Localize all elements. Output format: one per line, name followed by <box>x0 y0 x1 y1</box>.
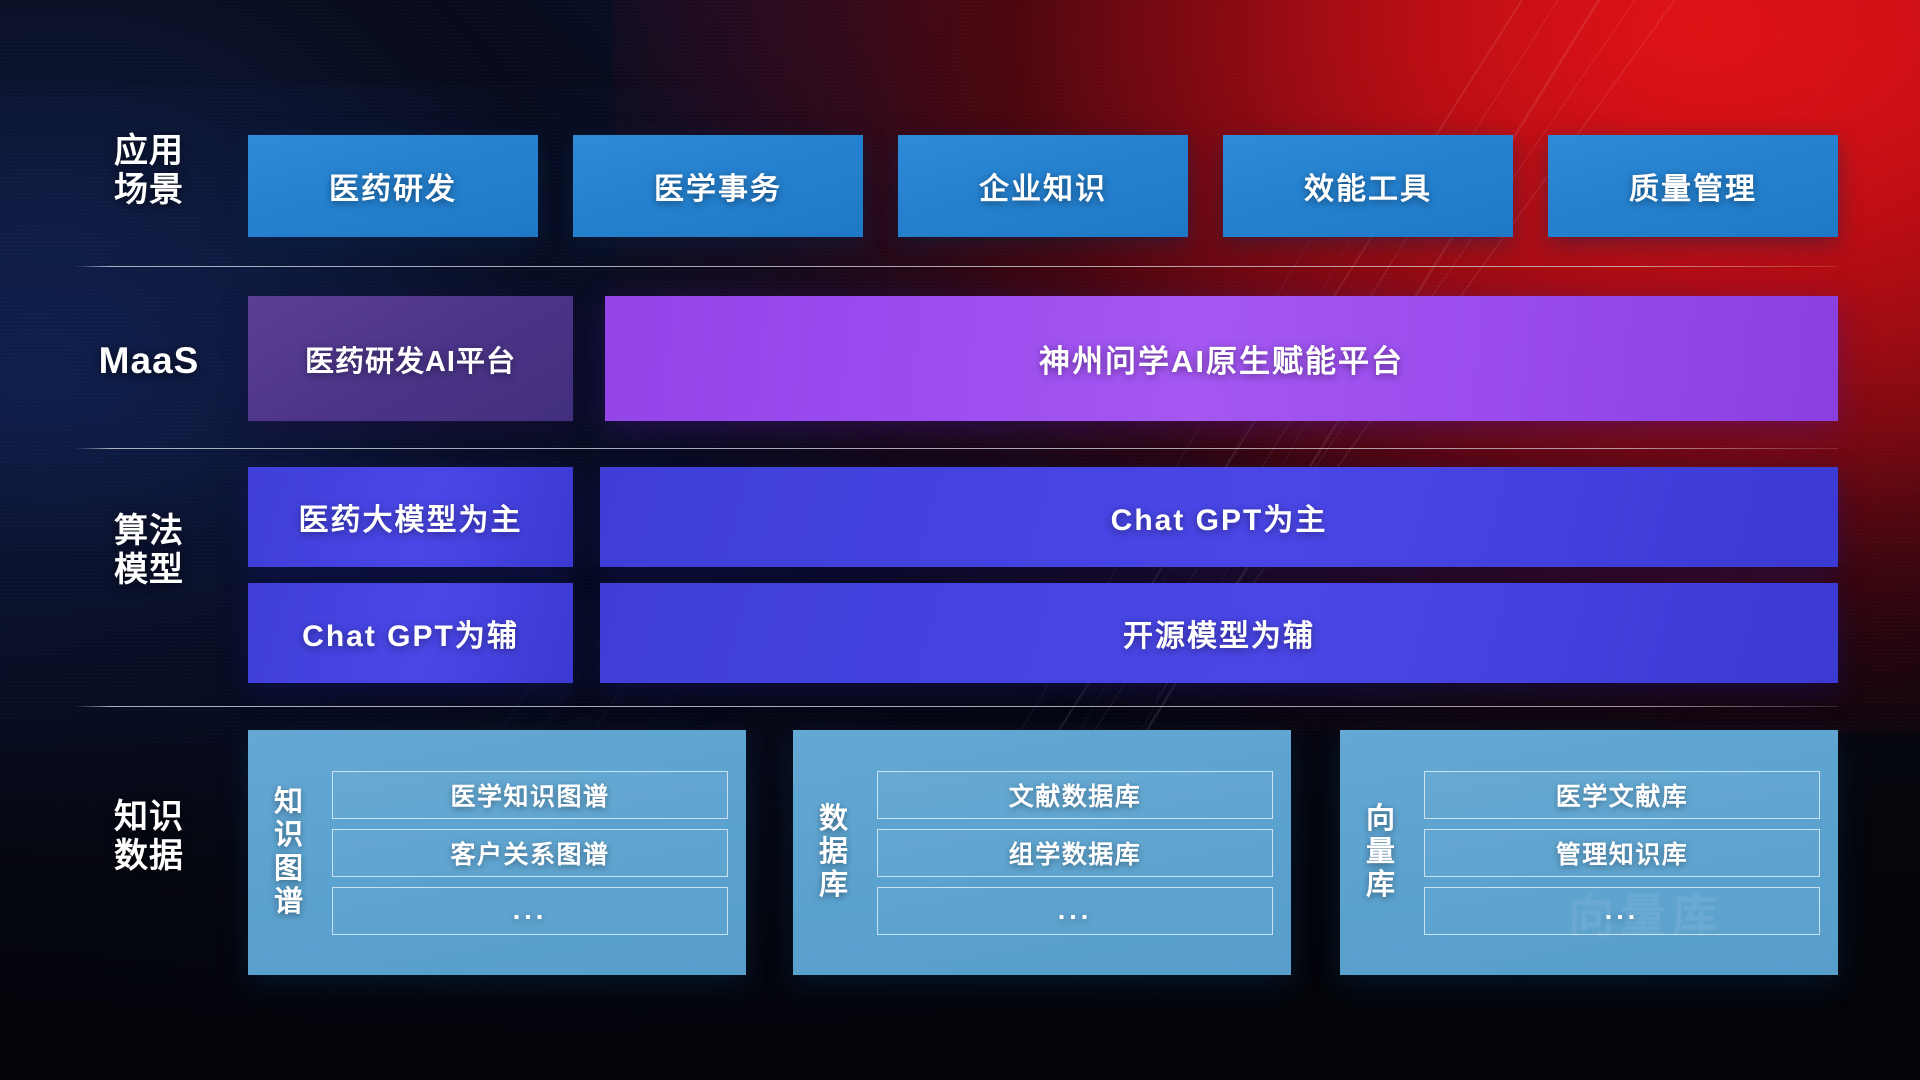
knowledge-item-more[interactable]: ... <box>877 887 1273 935</box>
diagram-stage: 应用 场景 医药研发 医学事务 企业知识 效能工具 质量管理 MaaS 医药研发… <box>0 0 1920 1080</box>
maas-card-medical-ai-platform[interactable]: 医药研发AI平台 <box>248 296 573 421</box>
knowledge-group-title: 知识图谱 <box>260 786 318 918</box>
scene-card-2[interactable]: 医学事务 <box>573 135 863 237</box>
knowledge-group-database[interactable]: 数据库 文献数据库 组学数据库 ... <box>793 730 1291 975</box>
knowledge-item[interactable]: 医学文献库 <box>1424 771 1820 819</box>
knowledge-item[interactable]: 组学数据库 <box>877 829 1273 877</box>
maas-card-shenzhou-wenxue-platform[interactable]: 神州问学AI原生赋能平台 <box>605 296 1838 421</box>
knowledge-group-items: 医学文献库 管理知识库 ... <box>1424 771 1820 935</box>
knowledge-item[interactable]: 客户关系图谱 <box>332 829 728 877</box>
diagram-content: 应用 场景 医药研发 医学事务 企业知识 效能工具 质量管理 MaaS 医药研发… <box>0 0 1920 1080</box>
knowledge-item-more[interactable]: ... <box>1424 887 1820 935</box>
knowledge-group-items: 文献数据库 组学数据库 ... <box>877 771 1273 935</box>
knowledge-group-vector-store[interactable]: 向量库 医学文献库 管理知识库 ... <box>1340 730 1838 975</box>
knowledge-item-more[interactable]: ... <box>332 887 728 935</box>
scene-card-5[interactable]: 质量管理 <box>1548 135 1838 237</box>
algo-card-chatgpt-primary[interactable]: Chat GPT为主 <box>600 467 1838 567</box>
knowledge-item[interactable]: 医学知识图谱 <box>332 771 728 819</box>
algo-card-chatgpt-secondary[interactable]: Chat GPT为辅 <box>248 583 573 683</box>
divider-1 <box>75 266 1838 267</box>
divider-2 <box>75 448 1838 449</box>
scene-card-4[interactable]: 效能工具 <box>1223 135 1513 237</box>
knowledge-group-items: 医学知识图谱 客户关系图谱 ... <box>332 771 728 935</box>
row-label-application-scenarios: 应用 场景 <box>74 132 224 211</box>
scene-card-1[interactable]: 医药研发 <box>248 135 538 237</box>
row-label-maas: MaaS <box>74 340 224 383</box>
scene-card-3[interactable]: 企业知识 <box>898 135 1188 237</box>
knowledge-group-title: 向量库 <box>1352 803 1410 902</box>
algo-card-medical-llm-primary[interactable]: 医药大模型为主 <box>248 467 573 567</box>
row-label-algorithm-model: 算法 模型 <box>74 512 224 591</box>
knowledge-item[interactable]: 管理知识库 <box>1424 829 1820 877</box>
algo-card-opensource-secondary[interactable]: 开源模型为辅 <box>600 583 1838 683</box>
knowledge-item[interactable]: 文献数据库 <box>877 771 1273 819</box>
divider-3 <box>75 706 1838 707</box>
knowledge-group-knowledge-graph[interactable]: 知识图谱 医学知识图谱 客户关系图谱 ... <box>248 730 746 975</box>
knowledge-group-title: 数据库 <box>805 803 863 902</box>
row-label-knowledge-data: 知识 数据 <box>74 798 224 877</box>
